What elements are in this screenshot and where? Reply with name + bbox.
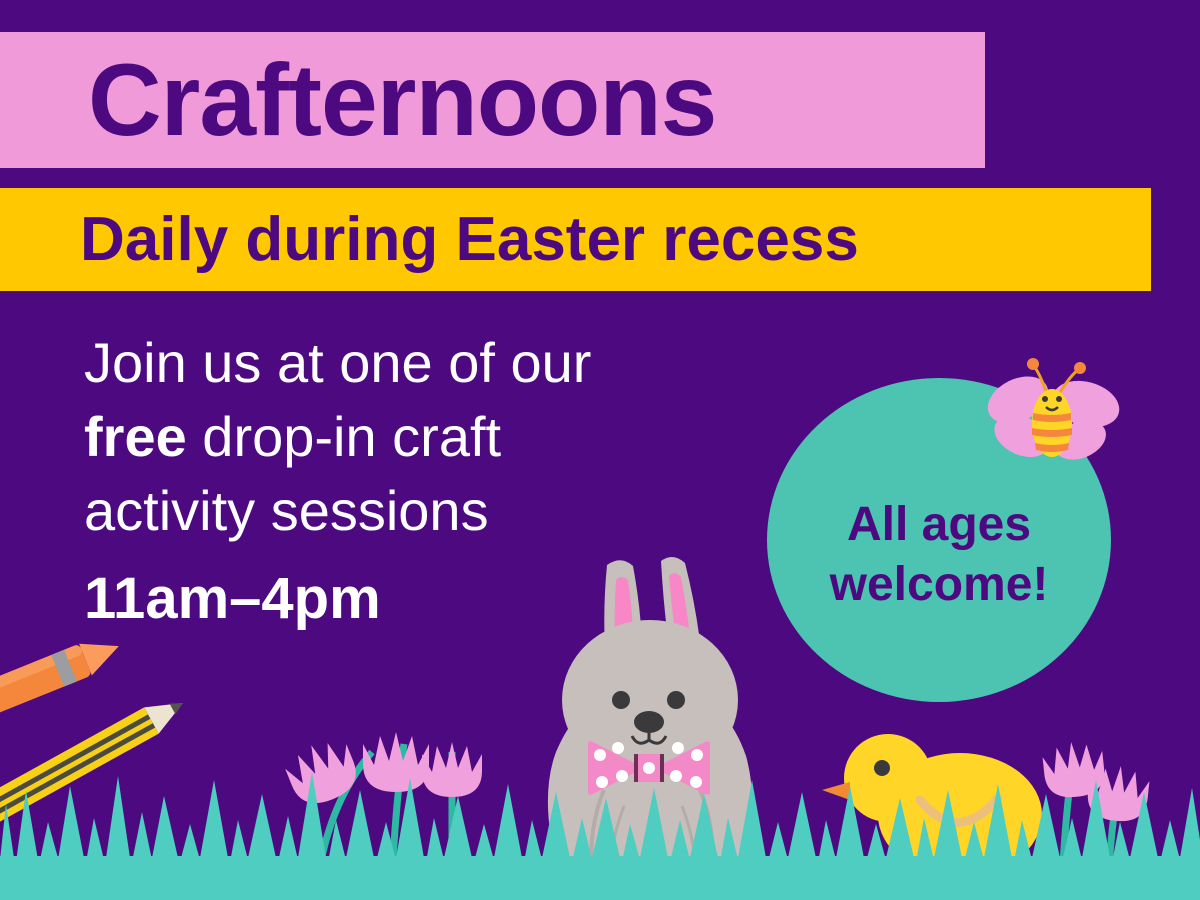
body-free-emphasis: free bbox=[84, 405, 187, 468]
body-line-3: activity sessions bbox=[84, 474, 824, 548]
body-line-2: free drop-in craft bbox=[84, 400, 824, 474]
badge-text: All ages welcome! bbox=[830, 465, 1049, 615]
chick bbox=[822, 734, 1042, 896]
tulips-left bbox=[281, 732, 482, 878]
badge-line-1: All ages bbox=[847, 498, 1031, 551]
body-copy: Join us at one of our free drop-in craft… bbox=[84, 326, 824, 628]
body-line-2-rest: drop-in craft bbox=[187, 405, 501, 468]
pencil-yellow bbox=[0, 690, 190, 841]
page-subtitle: Daily during Easter recess bbox=[0, 209, 859, 271]
subtitle-banner: Daily during Easter recess bbox=[0, 188, 1151, 291]
page-title: Crafternoons bbox=[0, 49, 716, 151]
body-line-1: Join us at one of our bbox=[84, 326, 824, 400]
poster-canvas: All ages welcome! bbox=[0, 0, 1200, 900]
tulips-right bbox=[1041, 739, 1150, 880]
crayon-orange bbox=[0, 630, 125, 731]
bunny-bowtie bbox=[588, 741, 710, 794]
badge-line-2: welcome! bbox=[830, 558, 1049, 611]
title-banner: Crafternoons bbox=[0, 32, 985, 168]
session-time: 11am–4pm bbox=[84, 570, 824, 628]
